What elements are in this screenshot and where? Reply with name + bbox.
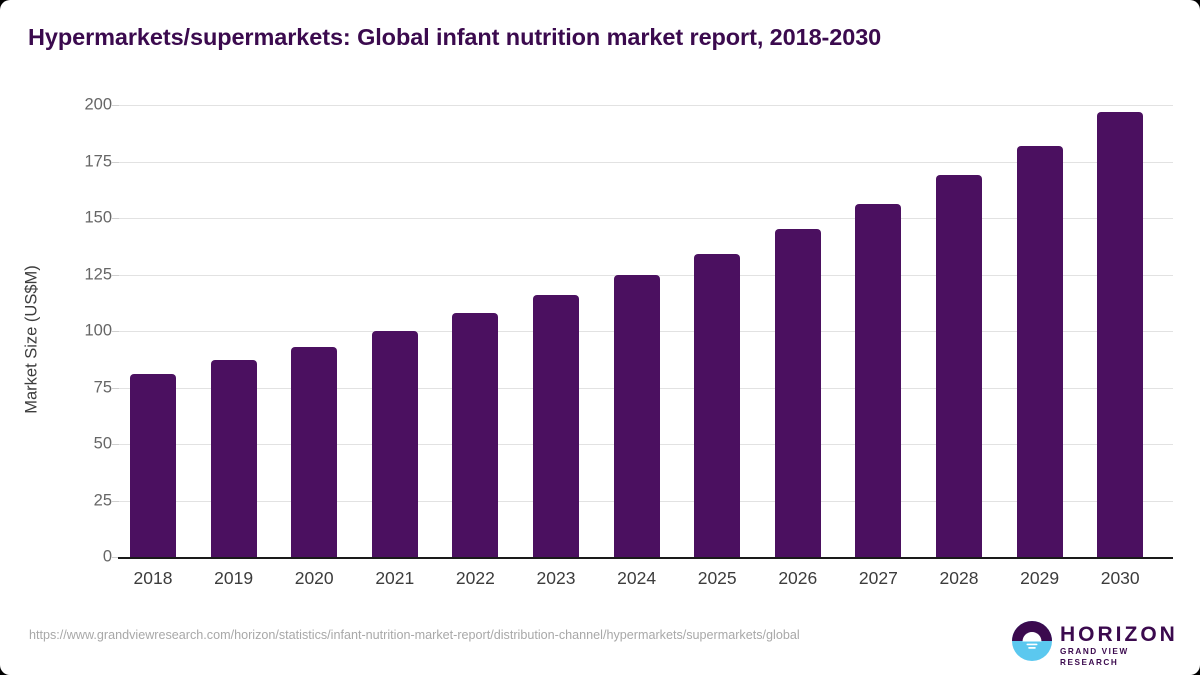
y-axis-tick-label: 75 <box>52 378 112 397</box>
x-axis-tick-label-2030: 2030 <box>1075 568 1165 589</box>
bar-2028[interactable] <box>936 175 982 557</box>
y-axis-tick-label: 125 <box>52 265 112 284</box>
bar-chart-plot: Market Size (US$M) 025507510012515017520… <box>0 0 1200 675</box>
x-axis-tick-label-2027: 2027 <box>833 568 923 589</box>
bar-2025[interactable] <box>694 254 740 557</box>
y-axis-tick-label: 25 <box>52 491 112 510</box>
chart-card: Hypermarkets/supermarkets: Global infant… <box>0 0 1200 675</box>
x-axis-tick-label-2025: 2025 <box>672 568 762 589</box>
x-axis-line <box>118 557 1173 559</box>
bar-2024[interactable] <box>614 275 660 558</box>
y-axis-tickmark <box>112 444 119 445</box>
y-axis-tickmark <box>112 331 119 332</box>
x-axis-tick-label-2020: 2020 <box>269 568 359 589</box>
y-axis-tick-labels: 0255075100125150175200 <box>40 0 112 675</box>
bar-2026[interactable] <box>775 229 821 557</box>
x-axis-tick-label-2026: 2026 <box>753 568 843 589</box>
logo-text-block: HORIZON GRAND VIEW RESEARCH <box>1060 624 1178 668</box>
bar-2030[interactable] <box>1097 112 1143 557</box>
bar-2029[interactable] <box>1017 146 1063 557</box>
x-axis-tick-label-2024: 2024 <box>592 568 682 589</box>
bar-2019[interactable] <box>211 360 257 557</box>
y-axis-tickmark <box>112 275 119 276</box>
x-axis-tick-label-2023: 2023 <box>511 568 601 589</box>
bar-2023[interactable] <box>533 295 579 557</box>
y-axis-tickmark <box>112 162 119 163</box>
y-axis-title: Market Size (US$M) <box>23 140 42 540</box>
bar-2018[interactable] <box>130 374 176 557</box>
y-axis-tick-label: 50 <box>52 435 112 454</box>
gridline <box>118 105 1173 106</box>
horizon-logo[interactable]: HORIZON GRAND VIEW RESEARCH <box>1012 620 1172 662</box>
y-axis-tickmark <box>112 105 119 106</box>
x-axis-tick-label-2028: 2028 <box>914 568 1004 589</box>
gridline <box>118 162 1173 163</box>
y-axis-tick-label: 100 <box>52 322 112 341</box>
y-axis-tick-label: 200 <box>52 96 112 115</box>
y-axis-tick-label: 150 <box>52 209 112 228</box>
bar-2022[interactable] <box>452 313 498 557</box>
x-axis-tick-label-2018: 2018 <box>108 568 198 589</box>
bar-2021[interactable] <box>372 331 418 557</box>
source-url[interactable]: https://www.grandviewresearch.com/horizo… <box>29 627 924 644</box>
y-axis-tick-label: 175 <box>52 152 112 171</box>
horizon-sun-circle-icon <box>1012 621 1052 661</box>
y-axis-tickmark <box>112 501 119 502</box>
x-axis-tick-label-2021: 2021 <box>350 568 440 589</box>
gridline <box>118 218 1173 219</box>
y-axis-tick-label: 0 <box>52 548 112 567</box>
logo-name: HORIZON <box>1060 624 1178 646</box>
y-axis-tickmark <box>112 218 119 219</box>
x-axis-tick-label-2022: 2022 <box>430 568 520 589</box>
x-axis-tick-label-2029: 2029 <box>995 568 1085 589</box>
bar-2027[interactable] <box>855 204 901 557</box>
logo-tagline: GRAND VIEW RESEARCH <box>1060 646 1178 668</box>
y-axis-tickmark <box>112 388 119 389</box>
x-axis-tick-label-2019: 2019 <box>189 568 279 589</box>
bar-2020[interactable] <box>291 347 337 557</box>
